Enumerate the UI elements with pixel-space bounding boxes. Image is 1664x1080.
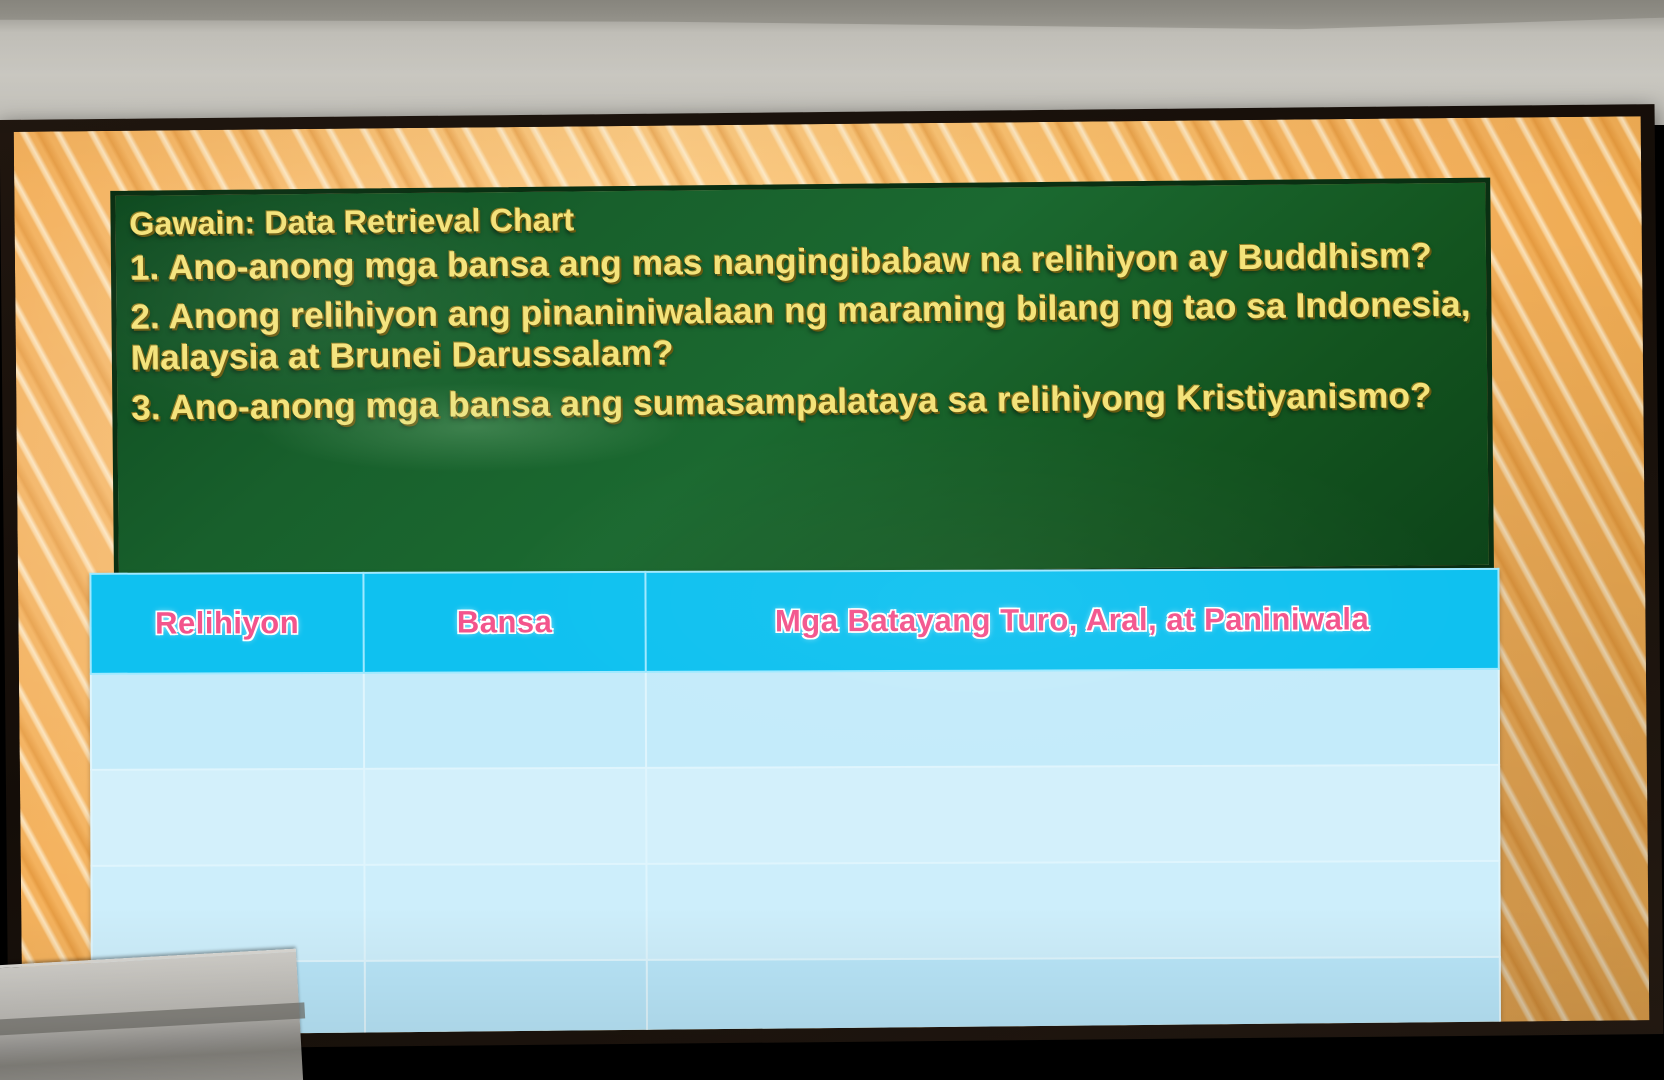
table-header-row: Relihiyon Bansa Mga Batayang Turo, Aral,… bbox=[90, 569, 1498, 674]
table-row bbox=[91, 669, 1499, 770]
column-header-mga-batayang-turo: Mga Batayang Turo, Aral, at Paniniwala bbox=[645, 569, 1498, 672]
tv-screen: Gawain: Data Retrieval Chart 1. Ano-anon… bbox=[14, 116, 1650, 1036]
cell-bansa bbox=[364, 768, 646, 865]
cell-bansa bbox=[364, 672, 646, 769]
question-2: 2. Anong relihiyon ang pinaniniwalaan ng… bbox=[130, 285, 1473, 388]
column-header-relihiyon: Relihiyon bbox=[90, 573, 363, 674]
cell-relihiyon bbox=[91, 673, 364, 770]
cell-bansa bbox=[365, 960, 647, 1036]
cell-turo bbox=[646, 861, 1499, 960]
cell-turo bbox=[646, 669, 1499, 768]
column-header-bansa: Bansa bbox=[363, 572, 645, 673]
cell-bansa bbox=[364, 864, 646, 961]
photograph-of-classroom-display: Gawain: Data Retrieval Chart 1. Ano-anon… bbox=[0, 0, 1664, 1080]
table-body bbox=[91, 669, 1500, 1036]
table-row bbox=[91, 861, 1499, 962]
cell-turo bbox=[647, 957, 1500, 1036]
question-panel: Gawain: Data Retrieval Chart 1. Ano-anon… bbox=[110, 178, 1494, 583]
data-retrieval-chart-table: Relihiyon Bansa Mga Batayang Turo, Aral,… bbox=[89, 568, 1501, 1036]
cell-relihiyon bbox=[91, 769, 364, 866]
table-row bbox=[92, 957, 1500, 1036]
table-header: Relihiyon Bansa Mga Batayang Turo, Aral,… bbox=[90, 569, 1498, 674]
television-display: Gawain: Data Retrieval Chart 1. Ano-anon… bbox=[0, 104, 1663, 1050]
cell-turo bbox=[646, 765, 1499, 864]
cell-relihiyon bbox=[91, 865, 364, 962]
presentation-slide: Gawain: Data Retrieval Chart 1. Ano-anon… bbox=[14, 116, 1650, 1036]
table-row bbox=[91, 765, 1499, 866]
